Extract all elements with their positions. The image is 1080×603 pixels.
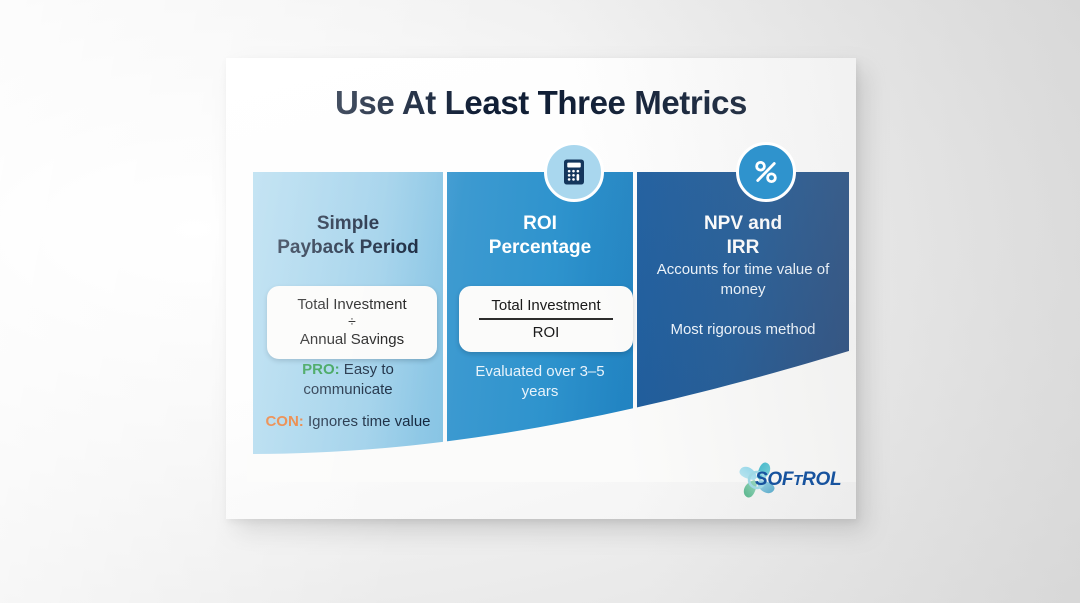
wordmark-part-3: ROL (802, 469, 841, 490)
softrol-logo[interactable]: SOFTROL (735, 456, 845, 504)
formula-denominator: Annual Savings (271, 330, 433, 349)
softrol-wordmark: SOFTROL (755, 469, 841, 491)
page-title: Use At Least Three Metrics (226, 84, 856, 122)
column-heading-line-1: Simple (253, 212, 443, 236)
formula-numerator: Total Investment (271, 295, 433, 314)
column-heading: ROI Percentage (447, 212, 633, 261)
column-heading-line-2: IRR (637, 236, 849, 260)
formula-card-payback: Total Investment ÷ Annual Savings (267, 286, 437, 359)
panel-content: NPV and IRR Accounts for time value of m… (637, 172, 849, 480)
metric-column-npv-and-irr[interactable]: NPV and IRR Accounts for time value of m… (637, 172, 849, 480)
column-heading: Simple Payback Period (253, 212, 443, 261)
metric-column-simple-payback-period[interactable]: Simple Payback Period Total Investment ÷… (253, 172, 443, 480)
evaluation-period-note: Evaluated over 3–5 years (457, 362, 623, 401)
npv-note-time-value: Accounts for time value of money (647, 260, 839, 299)
formula-card-roi: Total Investment ROI (459, 286, 633, 352)
column-heading-line-1: ROI (447, 212, 633, 236)
formula-divide-symbol: ÷ (271, 314, 433, 329)
con-label: CON: (265, 413, 303, 430)
npv-note-rigorous: Most rigorous method (647, 320, 839, 340)
pro-note: PRO: Easy to communicate (263, 360, 433, 399)
percent-icon (750, 156, 782, 188)
metrics-panel-group: Simple Payback Period Total Investment ÷… (253, 172, 849, 480)
calculator-icon (559, 157, 589, 187)
pro-label: PRO: (302, 361, 340, 378)
formula-denominator: ROI (465, 323, 627, 342)
fraction-bar (479, 318, 613, 320)
scene: Use At Least Three Metrics Simple Paybac… (0, 0, 1080, 603)
panel-content: Simple Payback Period Total Investment ÷… (253, 172, 443, 480)
con-note: CON: Ignores time value (263, 412, 433, 432)
column-heading: NPV and IRR (637, 212, 849, 261)
wordmark-part-1: SOF (755, 469, 793, 490)
column-heading-line-1: NPV and (637, 212, 849, 236)
percent-icon-badge (736, 142, 796, 202)
calculator-icon-badge (544, 142, 604, 202)
formula-numerator: Total Investment (465, 296, 627, 315)
infographic-poster: Use At Least Three Metrics Simple Paybac… (226, 58, 856, 519)
panel-content: ROI Percentage Total Investment ROI Eval… (447, 172, 633, 480)
wordmark-part-2: T (793, 472, 802, 489)
con-text: Ignores time value (304, 413, 431, 430)
column-heading-line-2: Percentage (447, 236, 633, 260)
column-heading-line-2: Payback Period (253, 236, 443, 260)
metric-column-roi-percentage[interactable]: ROI Percentage Total Investment ROI Eval… (447, 172, 633, 480)
